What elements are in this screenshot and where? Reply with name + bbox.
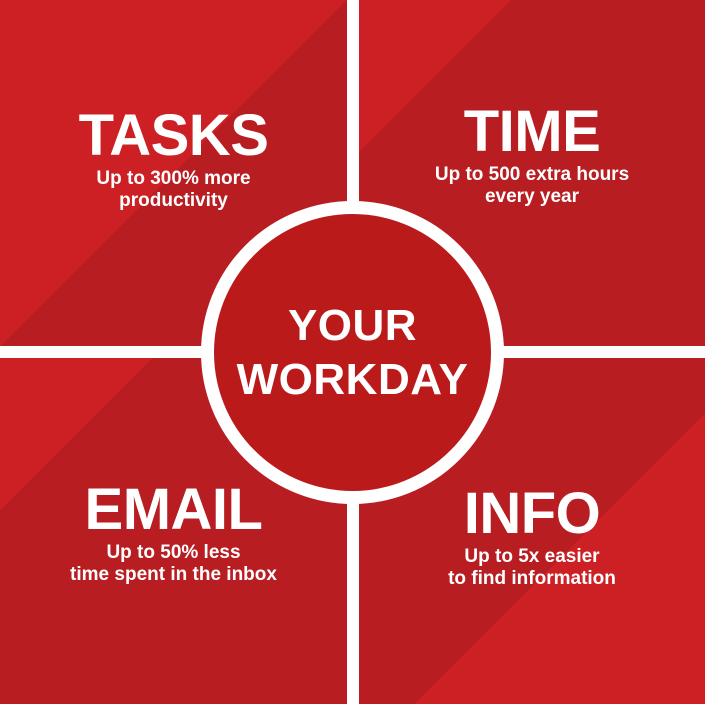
quadrant-info-text: INFO Up to 5x easier to find information	[359, 486, 705, 591]
workday-benefits-infographic: TASKS Up to 300% more productivity TIME …	[0, 0, 705, 704]
quadrant-tasks-subtitle: Up to 300% more productivity	[0, 168, 347, 214]
quadrant-tasks-text: TASKS Up to 300% more productivity	[0, 108, 347, 213]
quadrant-time-title: TIME	[359, 104, 705, 160]
quadrant-email-subtitle: Up to 50% less time spent in the inbox	[0, 542, 347, 588]
quadrant-time-text: TIME Up to 500 extra hours every year	[359, 104, 705, 209]
quadrant-email-text: EMAIL Up to 50% less time spent in the i…	[0, 482, 347, 587]
quadrant-info-subtitle: Up to 5x easier to find information	[359, 546, 705, 592]
center-hub-line-2: WORKDAY	[237, 353, 469, 407]
quadrant-time-subtitle: Up to 500 extra hours every year	[359, 164, 705, 210]
quadrant-tasks-title: TASKS	[0, 108, 347, 164]
center-hub-line-1: YOUR	[288, 299, 417, 353]
quadrant-info-title: INFO	[359, 486, 705, 542]
center-hub-circle[interactable]: YOUR WORKDAY	[201, 201, 504, 504]
